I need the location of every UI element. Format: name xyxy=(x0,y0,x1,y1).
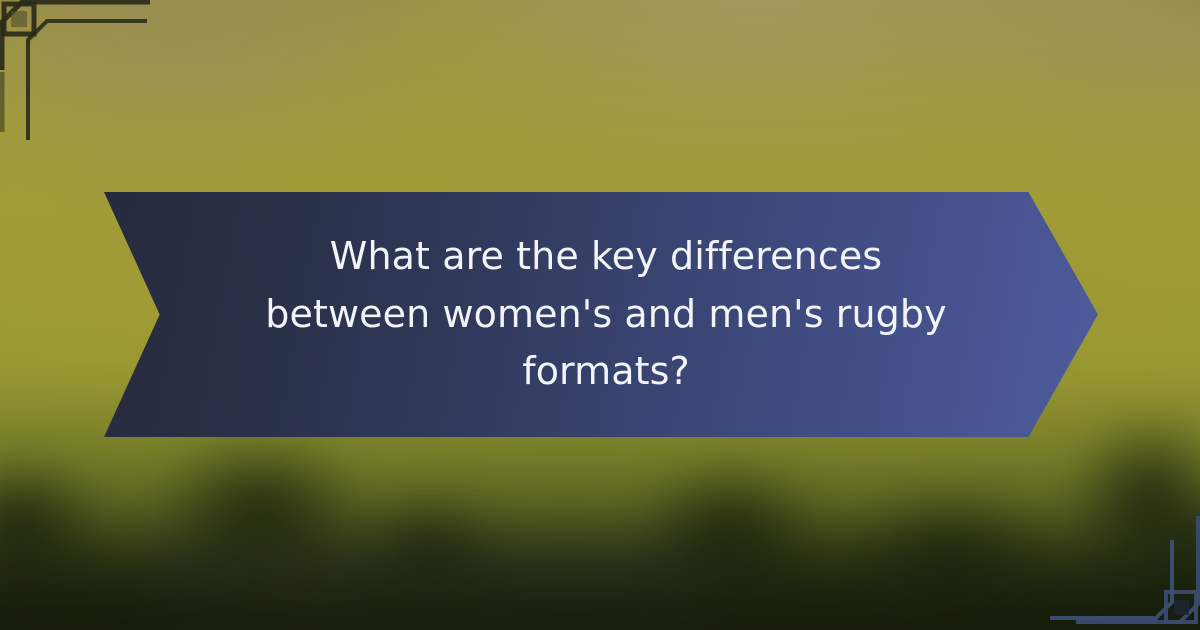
question-text: What are the key differences between wom… xyxy=(256,228,956,401)
question-banner: What are the key differences between wom… xyxy=(104,192,1098,437)
share-card: What are the key differences between wom… xyxy=(0,0,1200,630)
